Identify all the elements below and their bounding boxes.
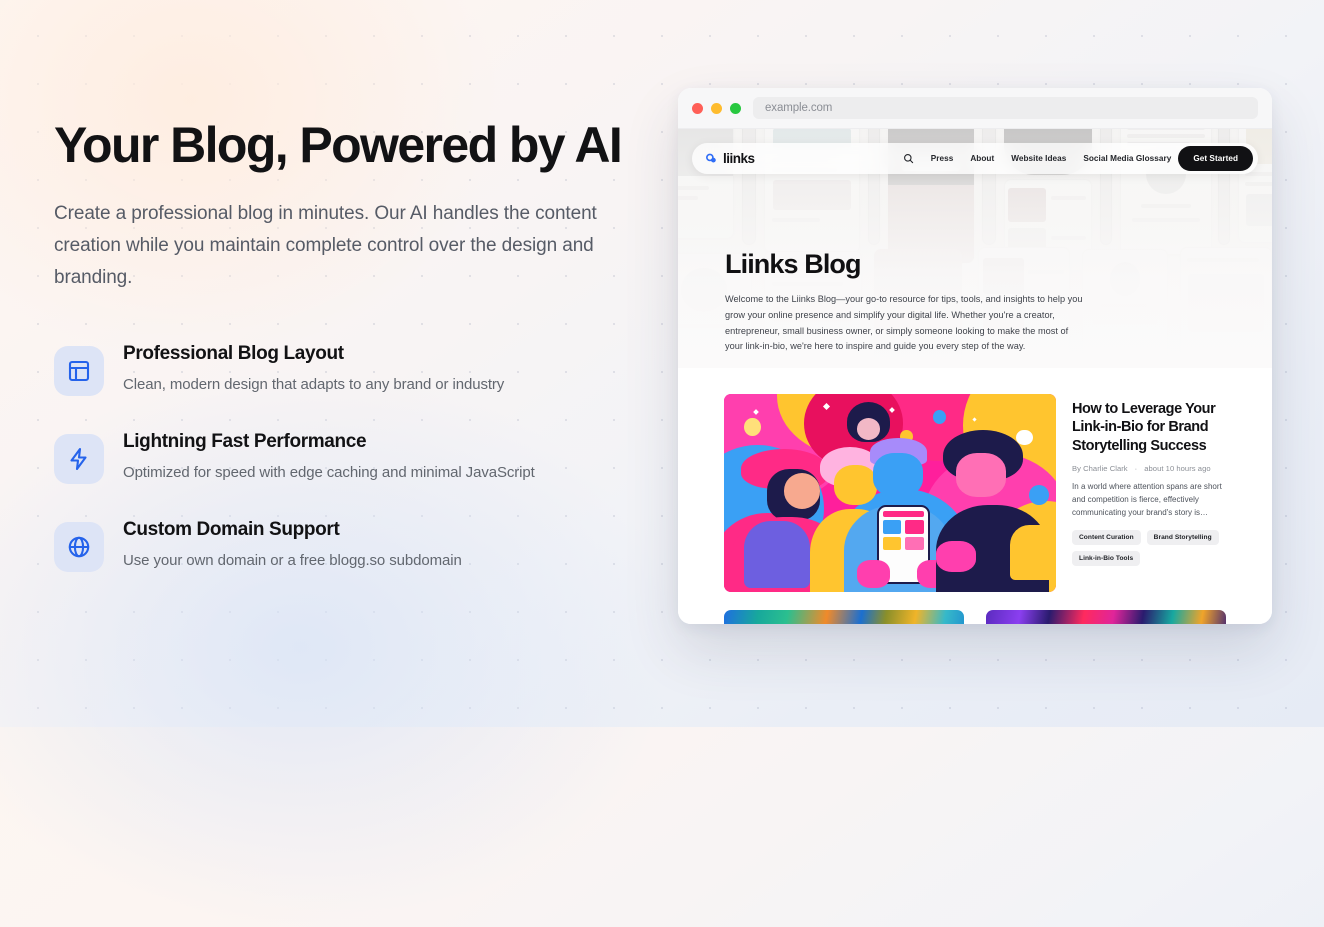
next-posts-row <box>724 610 1226 624</box>
layout-icon <box>67 359 91 383</box>
site-hero-intro: Welcome to the Liinks Blog—your go-to re… <box>725 292 1087 355</box>
post-meta: By Charlie Clark·about 10 hours ago <box>1072 464 1226 473</box>
site-hero-text: Liinks Blog Welcome to the Liinks Blog—y… <box>725 251 1232 355</box>
meta-separator: · <box>1135 464 1138 473</box>
next-post-thumbnail-1[interactable] <box>724 610 964 624</box>
search-icon[interactable] <box>903 153 914 164</box>
page-title: Your Blog, Powered by AI <box>54 118 654 172</box>
hero-section: Your Blog, Powered by AI Create a profes… <box>54 118 654 606</box>
blog-post-card[interactable]: How to Leverage Your Link-in-Bio for Bra… <box>724 394 1226 592</box>
maximize-window-button[interactable] <box>730 103 741 114</box>
post-timestamp: about 10 hours ago <box>1144 464 1210 473</box>
feature-description: Optimized for speed with edge caching an… <box>123 462 535 483</box>
blog-post-list: How to Leverage Your Link-in-Bio for Bra… <box>678 368 1272 624</box>
next-post-thumbnail-2[interactable] <box>986 610 1226 624</box>
browser-chrome: example.com <box>678 88 1272 129</box>
address-bar-text: example.com <box>765 102 832 114</box>
lightning-bolt-icon <box>67 447 91 471</box>
nav-item-social-media-glossary[interactable]: Social Media Glossary <box>1083 154 1171 163</box>
illustration-people-with-phone <box>724 394 1056 592</box>
post-tag-list: Content Curation Brand Storytelling Link… <box>1072 530 1226 566</box>
nav-item-about[interactable]: About <box>970 154 994 163</box>
post-details: How to Leverage Your Link-in-Bio for Bra… <box>1072 394 1226 592</box>
brand-name: liinks <box>723 151 755 166</box>
post-tag-link-in-bio-tools[interactable]: Link-in-Bio Tools <box>1072 551 1140 566</box>
get-started-button[interactable]: Get Started <box>1178 146 1253 171</box>
feature-description: Use your own domain or a free blogg.so s… <box>123 550 462 571</box>
browser-window-mockup: example.com <box>678 88 1272 624</box>
traffic-lights <box>692 103 741 114</box>
feature-item-performance: Lightning Fast Performance Optimized for… <box>54 430 654 484</box>
site-hero: liinks Press About Website Ideas Social … <box>678 129 1272 368</box>
minimize-window-button[interactable] <box>711 103 722 114</box>
globe-icon-tile <box>54 522 104 572</box>
post-tag-brand-storytelling[interactable]: Brand Storytelling <box>1147 530 1219 545</box>
feature-description: Clean, modern design that adapts to any … <box>123 374 504 395</box>
brand-logo[interactable]: liinks <box>705 151 755 166</box>
feature-title: Lightning Fast Performance <box>123 430 535 454</box>
liinks-logo-icon <box>705 152 718 165</box>
hero-subheadline: Create a professional blog in minutes. O… <box>54 198 634 294</box>
post-author: By Charlie Clark <box>1072 464 1128 473</box>
close-window-button[interactable] <box>692 103 703 114</box>
site-navigation-bar: liinks Press About Website Ideas Social … <box>692 143 1258 174</box>
layout-icon-tile <box>54 346 104 396</box>
feature-item-custom-domain: Custom Domain Support Use your own domai… <box>54 518 654 572</box>
address-bar[interactable]: example.com <box>753 97 1258 119</box>
feature-list: Professional Blog Layout Clean, modern d… <box>54 342 654 572</box>
lightning-bolt-icon-tile <box>54 434 104 484</box>
post-title[interactable]: How to Leverage Your Link-in-Bio for Bra… <box>1072 400 1226 455</box>
post-excerpt: In a world where attention spans are sho… <box>1072 481 1226 520</box>
feature-item-blog-layout: Professional Blog Layout Clean, modern d… <box>54 342 654 396</box>
feature-title: Custom Domain Support <box>123 518 462 542</box>
feature-title: Professional Blog Layout <box>123 342 504 366</box>
nav-item-website-ideas[interactable]: Website Ideas <box>1011 154 1066 163</box>
globe-icon <box>67 535 91 559</box>
site-hero-title: Liinks Blog <box>725 251 1232 278</box>
nav-item-press[interactable]: Press <box>931 154 954 163</box>
post-tag-content-curation[interactable]: Content Curation <box>1072 530 1141 545</box>
post-thumbnail-image[interactable] <box>724 394 1056 592</box>
nav-links: Press About Website Ideas Social Media G… <box>903 153 1179 164</box>
